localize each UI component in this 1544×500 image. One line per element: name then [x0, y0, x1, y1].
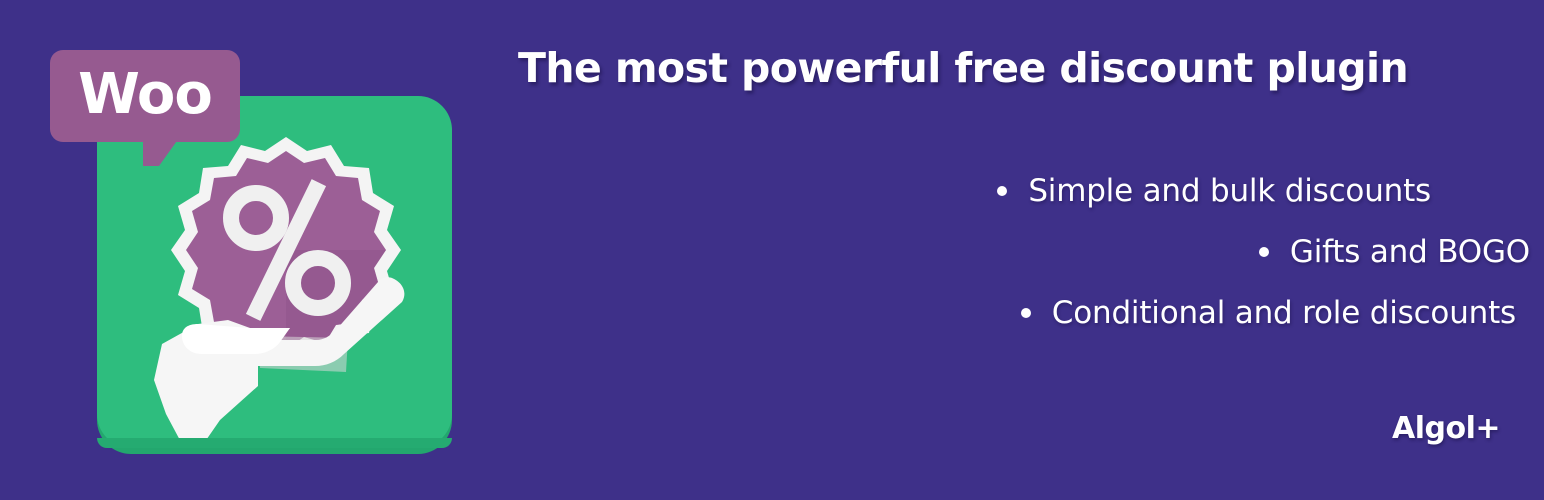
list-item: Simple and bulk discounts: [470, 168, 1530, 214]
woocommerce-badge: Woo: [50, 50, 240, 142]
feature-label: Simple and bulk discounts: [1028, 168, 1431, 214]
banner-content: The most powerful free discount plugin S…: [470, 0, 1544, 500]
promo-banner: Woo The most powerful free discount plug…: [0, 0, 1544, 500]
list-item: Gifts and BOGO: [470, 229, 1530, 275]
product-artwork: Woo: [0, 0, 470, 500]
woocommerce-badge-label: Woo: [50, 67, 240, 123]
feature-list: Simple and bulk discounts Gifts and BOGO…: [470, 168, 1530, 351]
brand-label: Algol+: [1392, 411, 1500, 446]
feature-label: Gifts and BOGO: [1290, 229, 1530, 275]
list-item: Conditional and role discounts: [470, 290, 1530, 336]
bullet-dot-icon: [997, 186, 1007, 196]
feature-label: Conditional and role discounts: [1052, 290, 1516, 336]
bullet-dot-icon: [1021, 308, 1031, 318]
open-hand-icon: [140, 268, 420, 458]
bullet-dot-icon: [1259, 247, 1269, 257]
headline: The most powerful free discount plugin: [518, 44, 1518, 92]
badge-tail: [143, 138, 179, 166]
